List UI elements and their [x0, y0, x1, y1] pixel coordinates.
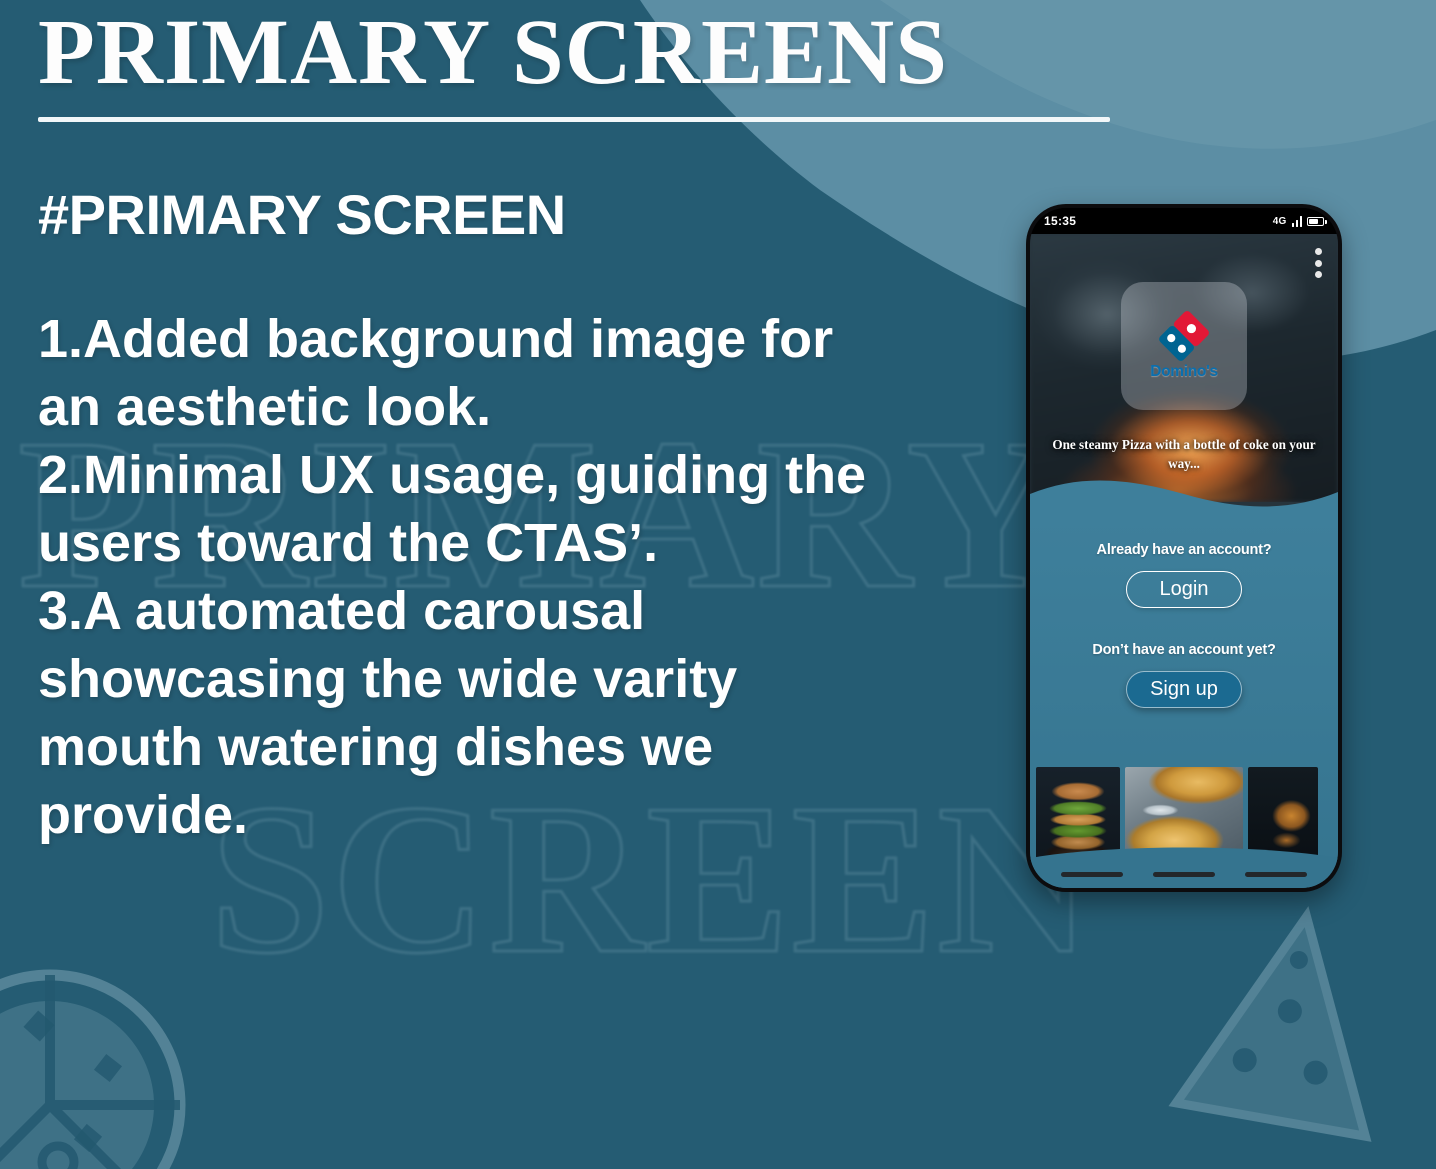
hero-tagline: One steamy Pizza with a bottle of coke o…: [1038, 436, 1330, 473]
feature-notes-list: 1.Added background image for an aestheti…: [38, 305, 993, 849]
section-subheading: #PRIMARY SCREEN: [38, 182, 566, 247]
note-line: an aesthetic look.: [38, 373, 993, 441]
login-prompt: Already have an account?: [1097, 542, 1272, 558]
page-title: PRIMARY SCREENS: [38, 6, 1123, 101]
note-line: users toward the CTAS’.: [38, 509, 993, 577]
app-screen: Domino's One steamy Pizza with a bottle …: [1030, 234, 1338, 888]
note-line: provide.: [38, 781, 993, 849]
headline-block: PRIMARY SCREENS: [38, 6, 1123, 122]
note-line: mouth watering dishes we: [38, 713, 993, 781]
signal-bars-icon: [1292, 216, 1303, 227]
status-bar-icons: 4G: [1273, 216, 1324, 227]
pizza-whole-icon: [0, 975, 180, 1169]
login-button[interactable]: Login: [1126, 571, 1242, 608]
system-nav-hints: [1030, 866, 1338, 882]
dominos-logo-icon: [1151, 311, 1217, 361]
network-type-label: 4G: [1273, 216, 1287, 227]
phone-mockup: 15:35 4G: [1026, 204, 1342, 892]
overflow-menu-icon[interactable]: [1315, 248, 1322, 278]
brand-logo-card: Domino's: [1121, 282, 1247, 410]
status-bar-clock: 15:35: [1044, 214, 1076, 228]
nav-hint-bar: [1153, 872, 1215, 877]
brand-wordmark: Domino's: [1150, 363, 1218, 381]
note-line: showcasing the wide varity: [38, 645, 993, 713]
signup-prompt: Don’t have an account yet?: [1092, 642, 1275, 658]
note-line: 2.Minimal UX usage, guiding the: [38, 441, 993, 509]
signup-prompt-wrap: Don’t have an account yet?: [1092, 642, 1275, 658]
title-underline-rule: [38, 117, 1110, 122]
pizza-slice-icon: [1176, 900, 1401, 1136]
battery-icon: [1307, 217, 1324, 226]
wave-divider: [1030, 472, 1338, 522]
note-line: 1.Added background image for: [38, 305, 993, 373]
status-bar: 15:35 4G: [1030, 208, 1338, 234]
nav-hint-bar: [1061, 872, 1123, 877]
nav-hint-bar: [1245, 872, 1307, 877]
phone-screen-body: 15:35 4G: [1030, 208, 1338, 888]
signup-button[interactable]: Sign up: [1126, 671, 1242, 708]
note-line: 3.A automated carousal: [38, 577, 993, 645]
